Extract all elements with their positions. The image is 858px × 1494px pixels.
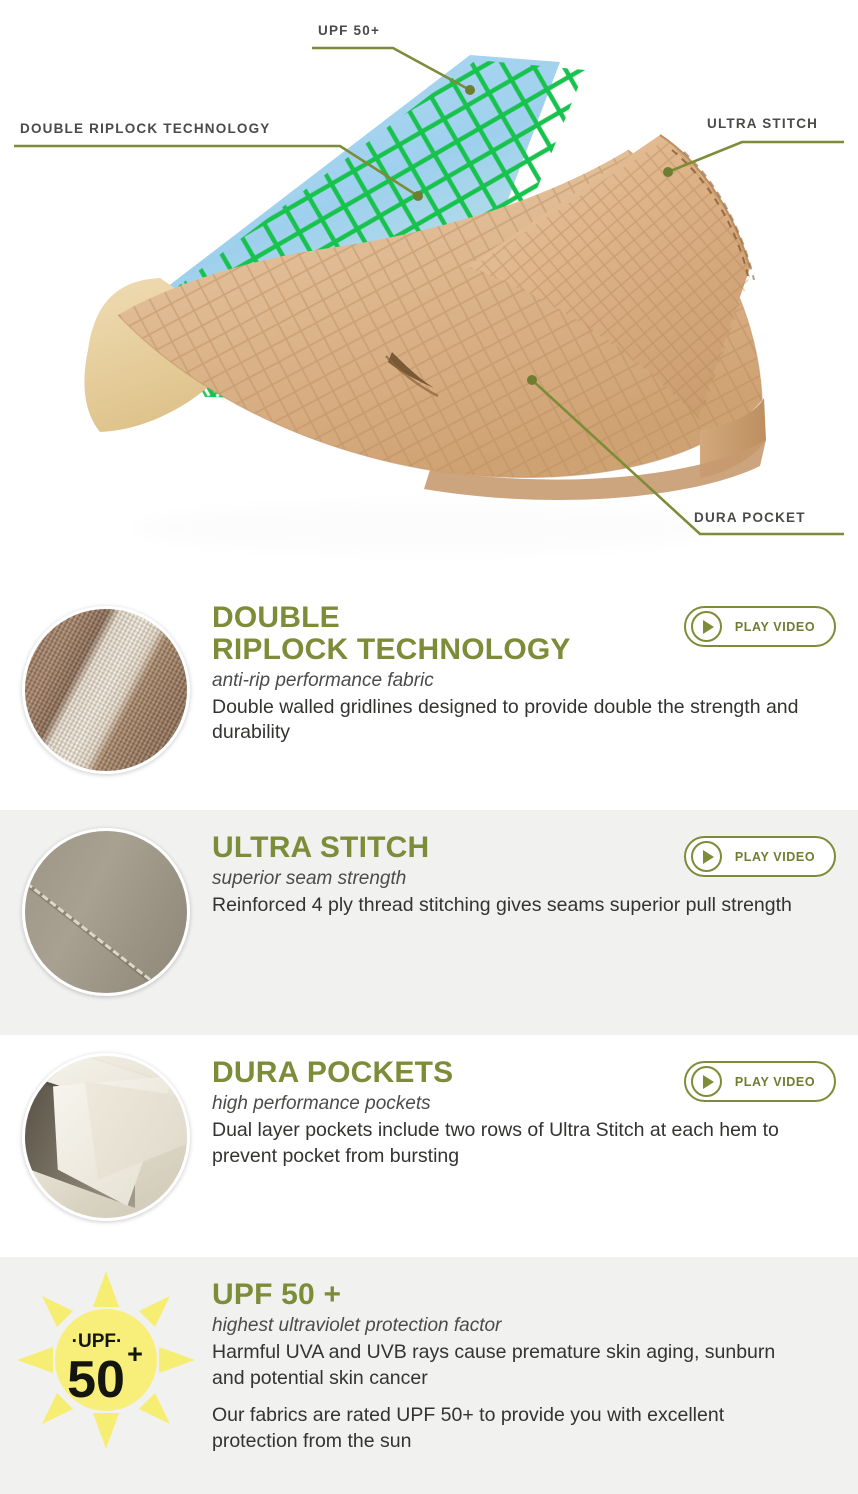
play-video-label-riplock: PLAY VIDEO [722, 620, 834, 634]
ultra-stitch-fabric-photo [22, 828, 190, 996]
feature-double-riplock-technology: DOUBLE RIPLOCK TECHNOLOGY anti-rip perfo… [0, 588, 858, 810]
sun-upf-icon: ·UPF· 50 + [11, 1265, 201, 1455]
feature-description-upf-1: Harmful UVA and UVB rays cause premature… [212, 1340, 812, 1391]
fabric-cutaway-diagram: UPF 50+ DOUBLE RIPLOCK TECHNOLOGY ULTRA … [0, 0, 858, 588]
feature-subtitle-upf: highest ultraviolet protection factor [212, 1315, 844, 1337]
thumb-wrap-riplock [0, 588, 212, 774]
sun-upf-icon-wrap: ·UPF· 50 + [0, 1257, 212, 1457]
play-video-label-pocket: PLAY VIDEO [722, 1075, 834, 1089]
feature-title-upf: UPF 50 + [212, 1279, 844, 1311]
diagram-shadow [130, 494, 730, 546]
thumb-wrap-stitch [0, 810, 212, 996]
play-icon-circle-stitch [691, 841, 722, 872]
callout-riplock: DOUBLE RIPLOCK TECHNOLOGY [20, 120, 271, 138]
callout-stitch: ULTRA STITCH [707, 115, 818, 133]
play-video-button-riplock[interactable]: PLAY VIDEO [684, 606, 836, 647]
feature-body-upf: UPF 50 + highest ultraviolet protection … [212, 1257, 858, 1455]
play-video-label-stitch: PLAY VIDEO [722, 850, 834, 864]
play-icon-circle-pocket [691, 1066, 722, 1097]
feature-body-pocket: DURA POCKETS high performance pockets Du… [212, 1035, 858, 1169]
fabric-layers-illustration [0, 0, 858, 588]
feature-description-upf-2: Our fabrics are rated UPF 50+ to provide… [212, 1403, 812, 1454]
feature-description-stitch: Reinforced 4 ply thread stitching gives … [212, 893, 812, 919]
product-feature-infographic: UPF 50+ DOUBLE RIPLOCK TECHNOLOGY ULTRA … [0, 0, 858, 1494]
feature-upf-50-plus: ·UPF· 50 + UPF 50 + highest ultraviolet … [0, 1257, 858, 1494]
dura-pocket-fabric-photo [22, 1053, 190, 1221]
play-icon [703, 1075, 714, 1089]
feature-ultra-stitch: ULTRA STITCH superior seam strength Rein… [0, 810, 858, 1035]
feature-description-riplock: Double walled gridlines designed to prov… [212, 695, 812, 746]
feature-description-pocket: Dual layer pockets include two rows of U… [212, 1118, 812, 1169]
feature-subtitle-riplock: anti-rip performance fabric [212, 670, 844, 692]
play-video-button-stitch[interactable]: PLAY VIDEO [684, 836, 836, 877]
play-icon-circle-riplock [691, 611, 722, 642]
play-icon [703, 850, 714, 864]
callout-label-upf: UPF 50+ [318, 23, 380, 38]
riplock-fabric-photo [22, 606, 190, 774]
thumb-wrap-pocket [0, 1035, 212, 1221]
callout-upf: UPF 50+ [318, 22, 380, 40]
callout-pocket: DURA POCKET [694, 509, 806, 527]
feature-dura-pockets: DURA POCKETS high performance pockets Du… [0, 1035, 858, 1257]
callout-label-riplock: DOUBLE RIPLOCK TECHNOLOGY [20, 121, 271, 136]
play-video-button-pocket[interactable]: PLAY VIDEO [684, 1061, 836, 1102]
callout-label-stitch: ULTRA STITCH [707, 116, 818, 131]
sun-upf-label: ·UPF· [72, 1331, 123, 1352]
sun-upf-plus: + [127, 1339, 143, 1369]
sun-upf-value: 50 [67, 1351, 125, 1409]
play-icon [703, 620, 714, 634]
callout-label-pocket: DURA POCKET [694, 510, 806, 525]
